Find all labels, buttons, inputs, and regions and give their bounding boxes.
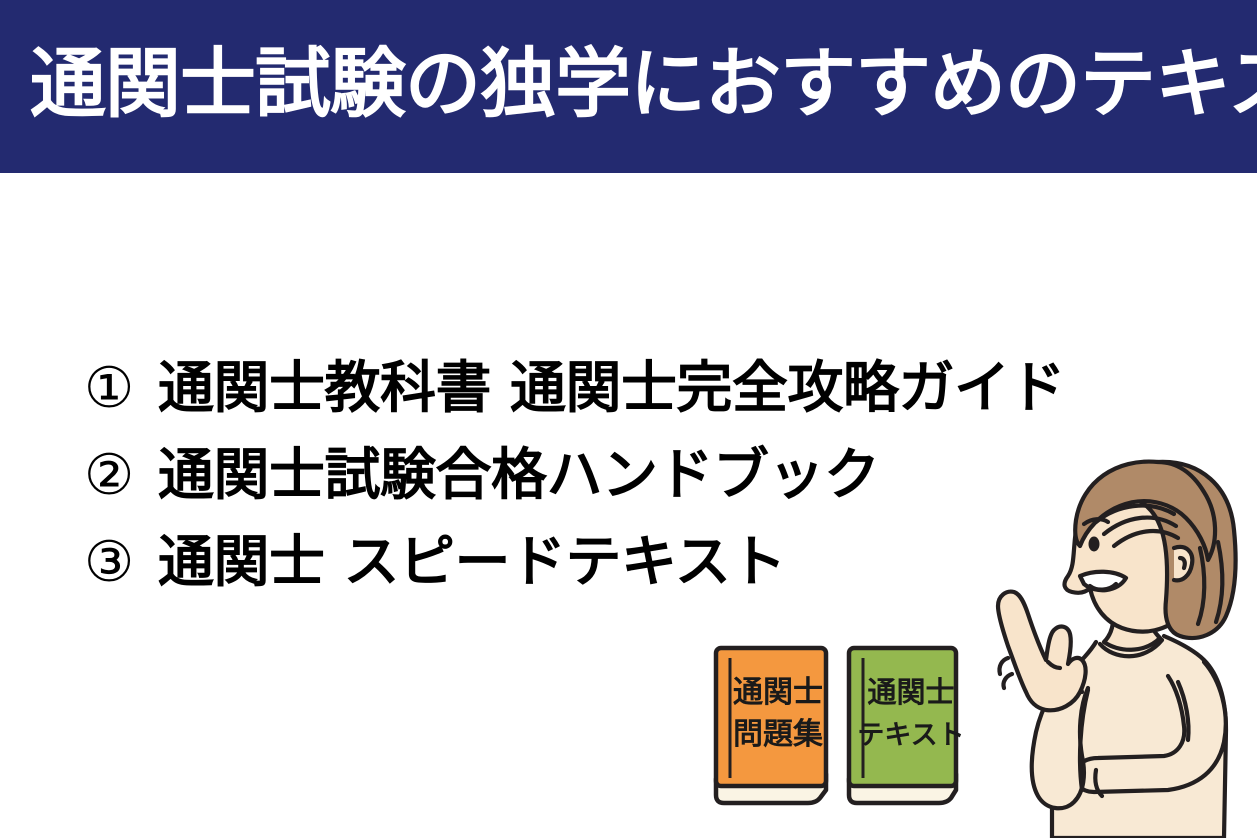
- workbook-title-line1: 通関士: [733, 675, 823, 710]
- woman-pointing-svg: [968, 430, 1257, 838]
- list-item-marker: ①: [84, 345, 158, 432]
- recommended-textbook-list: ①通関士教科書 通関士完全攻略ガイド ②通関士試験合格ハンドブック ③通関士 ス…: [84, 345, 1084, 606]
- woman-pointing-hand: [998, 592, 1086, 711]
- list-item: ②通関士試験合格ハンドブック: [84, 432, 1084, 519]
- person-illustration-woman-pointing: [968, 430, 1257, 838]
- textbook-title-line1: 通関士: [867, 675, 954, 709]
- list-item-marker: ②: [84, 432, 158, 519]
- list-item-label: 通関士教科書 通関士完全攻略ガイド: [158, 356, 1065, 421]
- textbook-cover: [849, 648, 956, 786]
- list-item-label: 通関士 スピードテキスト: [158, 530, 786, 595]
- textbook-svg: 通関士 テキスト: [843, 640, 963, 808]
- list-item: ③通関士 スピードテキスト: [84, 519, 1084, 606]
- workbook-svg: 通関士 問題集: [708, 640, 836, 808]
- woman-eye: [1089, 537, 1100, 552]
- book-illustration-textbook: 通関士 テキスト: [843, 640, 963, 808]
- woman-hand-crease-1: [999, 658, 1008, 674]
- header-banner: 通関士試験の独学におすすめのテキスト: [0, 0, 1257, 173]
- book-illustration-workbook: 通関士 問題集: [708, 640, 836, 808]
- workbook-title-line2: 問題集: [733, 717, 824, 752]
- list-item: ①通関士教科書 通関士完全攻略ガイド: [84, 345, 1084, 432]
- list-item-marker: ③: [84, 519, 158, 606]
- page-title: 通関士試験の独学におすすめのテキスト: [30, 34, 1230, 134]
- textbook-title-line2: テキスト: [857, 720, 963, 751]
- woman-hand-crease-2: [1003, 674, 1012, 688]
- list-item-label: 通関士試験合格ハンドブック: [158, 443, 880, 508]
- slide-canvas: 通関士試験の独学におすすめのテキスト ①通関士教科書 通関士完全攻略ガイド ②通…: [0, 0, 1257, 838]
